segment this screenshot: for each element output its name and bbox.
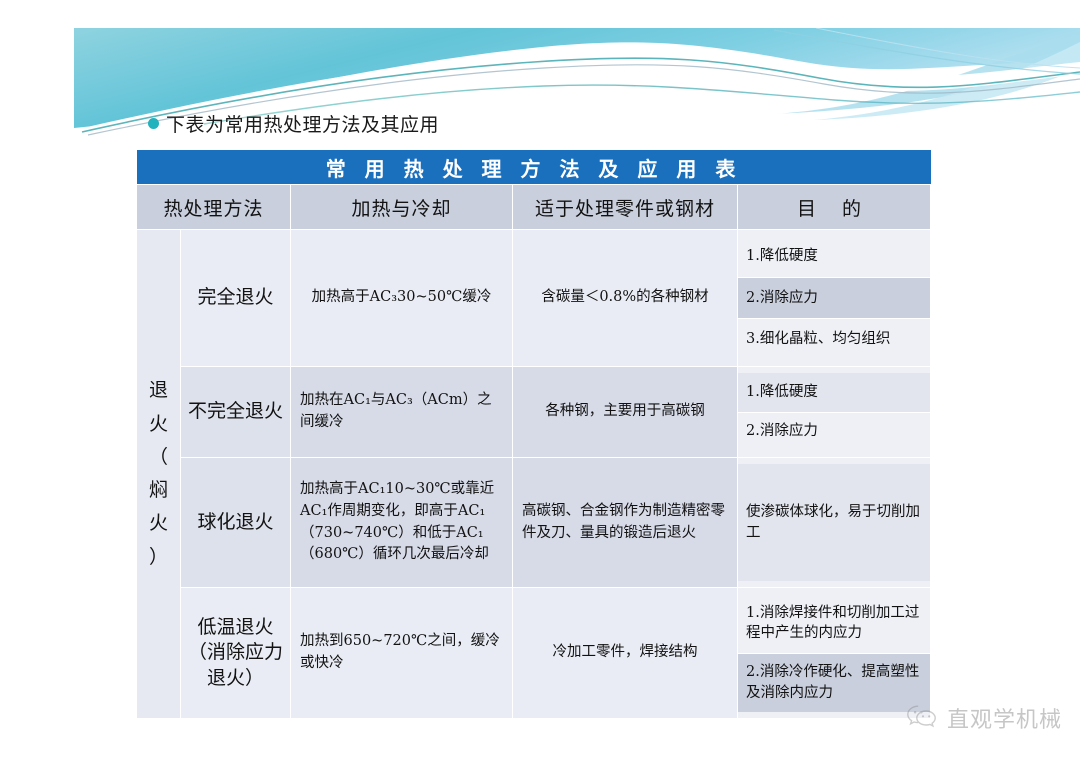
- heat-treatment-table-container: 常 用 热 处 理 方 法 及 应 用 表 热处理方法 加热与冷却 适于处理零件…: [136, 150, 930, 719]
- wechat-icon: [905, 703, 939, 734]
- group-label-char: （: [137, 441, 180, 474]
- purpose-cell: 使渗碳体球化，易于切削加工: [738, 458, 931, 588]
- watermark-text: 直观学机械: [947, 702, 1062, 734]
- group-label-char: 焖: [137, 474, 180, 507]
- group-label-char: 火: [137, 507, 180, 540]
- table-header-row: 热处理方法 加热与冷却 适于处理零件或钢材 目 的: [137, 185, 931, 230]
- method-name: 低温退火（消除应力退火）: [181, 588, 291, 719]
- group-label-char: ）: [137, 541, 180, 574]
- applicable-material: 冷加工零件，焊接结构: [513, 588, 738, 719]
- column-header-method: 热处理方法: [137, 185, 291, 230]
- purpose-cell: 1.降低硬度 2.消除应力 3.细化晶粒、均匀组织: [738, 230, 931, 367]
- purpose-cell: 1.降低硬度 2.消除应力: [738, 367, 931, 458]
- column-header-heating: 加热与冷却: [291, 185, 513, 230]
- column-header-purpose: 目 的: [738, 185, 931, 230]
- purpose-item: 2.消除冷作硬化、提高塑性及消除内应力: [738, 654, 930, 713]
- group-label-char: 火: [137, 408, 180, 441]
- purpose-cell: 1.消除焊接件和切削加工过程中产生的内应力 2.消除冷作硬化、提高塑性及消除内应…: [738, 588, 931, 719]
- table-title: 常 用 热 处 理 方 法 及 应 用 表: [137, 150, 931, 185]
- slide-canvas: 下表为常用热处理方法及其应用 常 用 热 处 理 方 法 及 应 用 表 热处理…: [0, 0, 1080, 764]
- column-header-material: 适于处理零件或钢材: [513, 185, 738, 230]
- applicable-material: 高碳钢、合金钢作为制造精密零件及刀、量具的锻造后退火: [513, 458, 738, 588]
- purpose-item: 1.降低硬度: [738, 236, 930, 278]
- heating-cooling: 加热高于AC₁10~30℃或靠近AC₁作周期变化，即高于AC₁（730~740℃…: [291, 458, 513, 588]
- purpose-item: 2.消除应力: [738, 278, 930, 320]
- method-name: 不完全退火: [181, 367, 291, 458]
- bullet-dot-icon: [148, 118, 159, 129]
- table-row: 球化退火 加热高于AC₁10~30℃或靠近AC₁作周期变化，即高于AC₁（730…: [137, 458, 931, 588]
- heating-cooling: 加热高于AC₃30~50℃缓冷: [291, 230, 513, 367]
- method-name: 完全退火: [181, 230, 291, 367]
- heat-treatment-table: 常 用 热 处 理 方 法 及 应 用 表 热处理方法 加热与冷却 适于处理零件…: [136, 150, 931, 719]
- bullet-line: 下表为常用热处理方法及其应用: [148, 110, 439, 137]
- group-label-anneal: 退 火 （ 焖 火 ）: [137, 230, 181, 719]
- purpose-item: 3.细化晶粒、均匀组织: [738, 319, 930, 360]
- table-row: 低温退火（消除应力退火） 加热到650~720℃之间，缓冷或快冷 冷加工零件，焊…: [137, 588, 931, 719]
- purpose-item: 1.消除焊接件和切削加工过程中产生的内应力: [738, 594, 930, 654]
- heating-cooling: 加热到650~720℃之间，缓冷或快冷: [291, 588, 513, 719]
- table-title-row: 常 用 热 处 理 方 法 及 应 用 表: [137, 150, 931, 185]
- method-name: 球化退火: [181, 458, 291, 588]
- bullet-text: 下表为常用热处理方法及其应用: [166, 110, 439, 137]
- table-row: 不完全退火 加热在AC₁与AC₃（ACm）之间缓冷 各种钢，主要用于高碳钢 1.…: [137, 367, 931, 458]
- heating-cooling: 加热在AC₁与AC₃（ACm）之间缓冷: [291, 367, 513, 458]
- group-label-char: 退: [137, 374, 180, 407]
- purpose-item: 2.消除应力: [738, 413, 930, 452]
- watermark: 直观学机械: [905, 702, 1062, 734]
- table-row: 退 火 （ 焖 火 ） 完全退火 加热高于AC₃30~50℃缓冷 含碳量＜0.8…: [137, 230, 931, 367]
- applicable-material: 各种钢，主要用于高碳钢: [513, 367, 738, 458]
- applicable-material: 含碳量＜0.8%的各种钢材: [513, 230, 738, 367]
- purpose-item: 1.降低硬度: [738, 373, 930, 413]
- purpose-item: 使渗碳体球化，易于切削加工: [738, 464, 930, 581]
